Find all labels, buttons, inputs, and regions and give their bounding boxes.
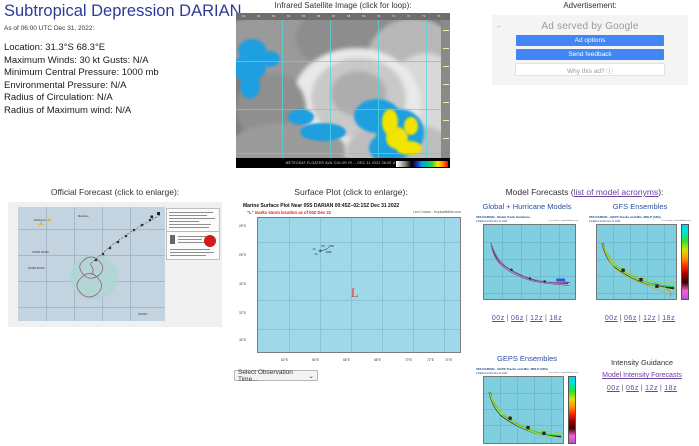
link-sep: | [660,385,662,392]
page-title: Subtropical Depression DARIAN [4,2,232,21]
model-forecasts-section: Model Forecasts (list of model acronyms)… [470,186,699,341]
ad-options-button[interactable]: Ad options [516,35,664,46]
surface-y-tick-3: 32°S [239,311,246,315]
advertisement-label: Advertisement: [487,0,693,12]
model-forecasts-title-suffix: ): [658,187,663,197]
storm-min-pressure: Minimum Central Pressure: 1000 mb [4,67,232,80]
model-intensity-forecasts-link[interactable]: Model Intensity Forecasts [602,372,682,379]
as-of-timestamp: As of 06:00 UTC Dec 31, 2022: [4,24,232,33]
panel-gfs-ensembles: GFS Ensembles 05S DARIAN - GEFS Tracks a… [586,201,694,322]
surface-y-tick-4: 34°S [239,338,246,342]
intensity-link-12z[interactable]: 12z [645,385,658,392]
link-sep: | [620,315,622,322]
infrared-satellite-image[interactable]: 6162 6364 6566 6768 6970 7172 7374 METEO… [236,13,450,168]
surface-x-tick-1: 64°E [312,358,319,362]
gfs-plot-subheader: Initialized at 00z Dec 31 2022 [589,220,620,223]
surface-plot-credit: Levi Cowan - tropicaltidbits.com [413,210,461,214]
panel-gfs-title: GFS Ensembles [586,201,694,212]
forecast-label-1: 07/06Z WARN [32,251,49,254]
satellite-latitude-axis [441,20,450,158]
storm-environmental-pressure: Environmental Pressure: N/A [4,80,232,93]
global-models-plot-image[interactable]: 05S DARIAN - Model Track Guidance Initia… [474,214,580,310]
surface-y-tick-1: 28°S [239,253,246,257]
model-forecasts-title: Model Forecasts (list of model acronyms)… [470,186,699,198]
gfs-link-00z[interactable]: 00z [605,315,618,322]
legend-intensity-symbol [204,235,216,247]
gfs-color-bar [681,224,689,300]
forecast-legend-box [166,208,220,260]
storm-location-marker: L [351,285,359,301]
global-link-18z[interactable]: 18z [549,315,562,322]
top-row: Subtropical Depression DARIAN As of 06:0… [0,0,699,180]
surface-observation-station: 12 09 1007 24 1008 [313,245,335,257]
surface-x-tick-2: 66°E [343,358,350,362]
panel-geps-ensembles: GEPS Ensembles 05S DARIAN - GEPS Tracks … [473,353,581,446]
model-intensity-forecasts-link-wrap: Model Intensity Forecasts [586,372,698,379]
link-sep: | [639,315,641,322]
intensity-link-00z[interactable]: 00z [607,385,620,392]
global-link-00z[interactable]: 00z [492,315,505,322]
gfs-plot-credit: Levi Cowan - tropicaltidbits.com [662,220,691,222]
official-forecast-image[interactable]: Rodrigues Mauritius 07/06Z WARN 06/18Z W… [8,202,222,327]
send-feedback-button[interactable]: Send feedback [516,49,664,60]
arrow-left-icon: ← [496,23,503,30]
gfs-ensembles-time-links: 00z|06z|12z|18z [586,315,694,322]
surface-x-tick-6: 74°E [445,358,452,362]
storm-attributes-list: Location: 31.3°S 68.3°E Maximum Winds: 3… [4,42,232,118]
storm-radius-max-wind: Radius of Maximum wind: N/A [4,105,232,118]
geps-ensembles-plot-image[interactable]: 05S DARIAN - GEPS Tracks and Min. MSLP (… [474,366,580,446]
observation-time-select-label: Select Observation Time... [238,369,309,383]
global-plot-header: 05S DARIAN - Model Track Guidance [476,215,530,219]
link-sep: | [658,315,660,322]
model-acronyms-link[interactable]: list of model acronyms [574,187,659,197]
global-link-06z[interactable]: 06z [511,315,524,322]
global-plot-subheader: Initialized at 00z Dec 31 2022 [476,220,507,223]
panel-global-title: Global + Hurricane Models [473,201,581,212]
surface-plot-caption: Surface Plot (click to enlarge): [232,186,470,198]
satellite-caption: Infrared Satellite Image (click for loop… [234,0,452,11]
intensity-link-18z[interactable]: 18z [664,385,677,392]
storm-location: Location: 31.3°S 68.3°E [4,42,232,55]
observation-time-select[interactable]: Select Observation Time... ⌄ [234,370,318,381]
official-forecast-caption: Official Forecast (click to enlarge): [0,186,230,198]
link-sep: | [507,315,509,322]
link-sep: | [545,315,547,322]
link-sep: | [526,315,528,322]
global-plot-credit: Levi Cowan - tropicaltidbits.com [549,220,578,222]
surface-plot-axes: L 12 09 1007 24 1008 [257,217,461,353]
gfs-plot-header: 05S DARIAN - GEFS Tracks and Min. MSLP (… [589,215,661,219]
intensity-guidance-panel: Intensity Guidance Model Intensity Forec… [586,357,698,392]
gfs-ensembles-plot-image[interactable]: 05S DARIAN - GEFS Tracks and Min. MSLP (… [587,214,693,310]
advertisement-panel: Advertisement: ← Ad served by Google Ad … [487,0,693,85]
forecast-corner-label: 4/3/2KN [138,313,147,316]
global-plot-axes [483,224,576,300]
forecast-track-line [18,207,165,321]
satellite-longitude-axis: 6162 6364 6566 6768 6970 7172 7374 [236,13,450,20]
intensity-link-06z[interactable]: 06z [626,385,639,392]
forecast-map: Rodrigues Mauritius 07/06Z WARN 06/18Z W… [18,207,165,321]
gfs-link-06z[interactable]: 06z [624,315,637,322]
surface-x-tick-0: 62°E [281,358,288,362]
storm-max-winds: Maximum Winds: 30 kt Gusts: N/A [4,55,232,68]
model-forecasts-title-prefix: Model Forecasts ( [506,187,574,197]
global-link-12z[interactable]: 12z [530,315,543,322]
panel-geps-title: GEPS Ensembles [473,353,581,364]
surface-plot-panel: Surface Plot (click to enlarge): Marine … [232,186,470,381]
surface-y-tick-0: 26°S [239,224,246,228]
link-sep: | [622,385,624,392]
ad-served-by-text: Ad served by Google [492,15,688,32]
gfs-plot-axes [596,224,677,300]
gfs-link-18z[interactable]: 18z [662,315,675,322]
satellite-panel: Infrared Satellite Image (click for loop… [234,0,452,168]
ad-box[interactable]: ← Ad served by Google Ad options Send fe… [492,15,688,85]
chevron-down-icon: ⌄ [309,372,314,380]
satellite-color-bar [396,161,448,167]
geps-plot-subheader: Initialized at 00z Dec 31 2022 [476,372,507,375]
intensity-guidance-time-links: 00z|06z|12z|18z [586,385,698,392]
surface-x-tick-5: 72°E [427,358,434,362]
geps-plot-axes [483,376,564,444]
link-sep: | [641,385,643,392]
gfs-link-12z[interactable]: 12z [643,315,656,322]
geps-color-bar [568,376,576,444]
surface-plot-subtitle: "L" marks storm location as of 00Z Dec 3… [247,210,331,215]
global-models-time-links: 00z|06z|12z|18z [473,315,581,322]
geps-plot-header: 05S DARIAN - GEPS Tracks and Min. MSLP (… [476,367,548,371]
surface-plot-title: Marine Surface Plot Near 05S DARIAN 00:4… [243,203,399,209]
forecast-label-2: 06/18Z WARN [28,267,45,270]
surface-plot-image[interactable]: Marine Surface Plot Near 05S DARIAN 00:4… [237,202,465,367]
cloud-field [236,13,450,168]
geps-plot-credit: Levi Cowan - tropicaltidbits.com [549,372,578,374]
storm-info-block: Subtropical Depression DARIAN As of 06:0… [4,2,232,118]
panel-global-hurricane-models: Global + Hurricane Models 05S DARIAN - M… [473,201,581,322]
surface-x-tick-3: 68°E [374,358,381,362]
surface-y-tick-2: 30°S [239,282,246,286]
why-this-ad-button[interactable]: Why this ad? ⓘ [515,63,665,76]
surface-x-tick-4: 70°E [405,358,412,362]
intensity-guidance-title: Intensity Guidance [586,357,698,368]
official-forecast-panel: Official Forecast (click to enlarge): [0,186,230,327]
storm-radius-circulation: Radius of Circulation: N/A [4,92,232,105]
